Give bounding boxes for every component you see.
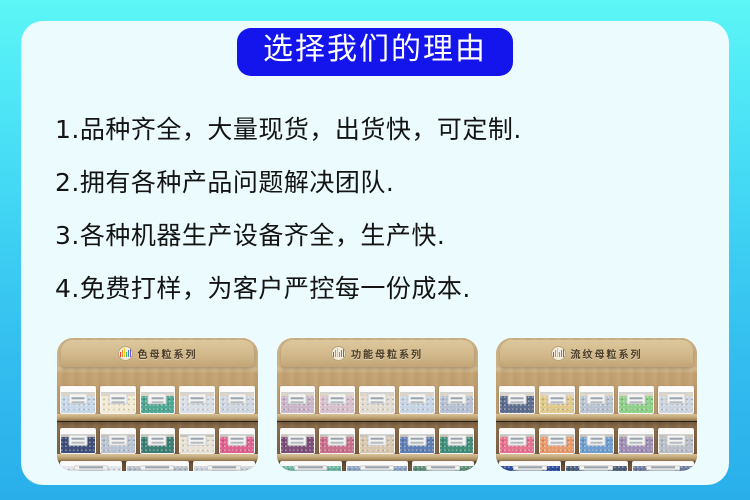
- product-label: [360, 465, 394, 470]
- pellet-tub: [359, 386, 395, 414]
- list-item: 2.拥有各种产品问题解决团队.: [55, 156, 695, 209]
- pellet-tub: [60, 386, 96, 414]
- shelf-board: [277, 454, 478, 461]
- product-label: [547, 393, 566, 404]
- product-label: [108, 435, 127, 446]
- product-label: [68, 435, 87, 446]
- product-label: [426, 465, 460, 470]
- product-label: [288, 435, 307, 446]
- pellet-tub-row: [280, 428, 475, 454]
- pellet-tub-row: [280, 386, 475, 414]
- product-label: [507, 435, 526, 446]
- pellet-tub: [126, 461, 188, 471]
- pellet-tub: [658, 428, 694, 454]
- pellet-tub: [219, 428, 255, 454]
- list-item: 3.各种机器生产设备齐全，生产快.: [55, 209, 695, 262]
- product-label: [627, 435, 646, 446]
- series-label: 色母粒系列: [138, 346, 198, 361]
- pellet-tub: [60, 428, 96, 454]
- pellet-tub: [618, 386, 654, 414]
- pellet-tub: [140, 386, 176, 414]
- pellet-tub: [539, 428, 575, 454]
- pellet-tub: [219, 386, 255, 414]
- pellet-tub: [499, 461, 561, 471]
- product-label: [148, 435, 167, 446]
- product-label: [407, 435, 426, 446]
- product-label: [667, 393, 686, 404]
- pellet-tub: [439, 428, 475, 454]
- product-label: [207, 465, 241, 470]
- product-label: [587, 393, 606, 404]
- pellet-tub: [565, 461, 627, 471]
- pellet-tub: [499, 386, 535, 414]
- pellet-tub: [399, 386, 435, 414]
- product-label: [74, 465, 108, 470]
- product-label: [368, 393, 387, 404]
- product-label: [627, 393, 646, 404]
- pellet-tub: [359, 428, 395, 454]
- pellet-tub: [439, 386, 475, 414]
- pellet-tub: [579, 428, 615, 454]
- series-header: 色母粒系列: [61, 340, 254, 367]
- pellet-tub: [280, 428, 316, 454]
- pellet-tub: [346, 461, 408, 471]
- pellet-tub: [539, 386, 575, 414]
- pellet-tub: [280, 461, 342, 471]
- pellet-tub: [399, 428, 435, 454]
- product-card[interactable]: 功能母粒系列: [277, 338, 478, 471]
- product-label: [646, 465, 680, 470]
- rainbow-stripes-logo-icon: [551, 346, 566, 361]
- product-label: [368, 435, 387, 446]
- shelf-board: [496, 414, 697, 421]
- pellet-tub-row: [499, 428, 694, 454]
- product-label: [507, 393, 526, 404]
- product-card[interactable]: 色母粒系列: [57, 338, 258, 471]
- rainbow-stripes-logo-icon: [331, 346, 346, 361]
- product-label: [547, 435, 566, 446]
- pellet-tub: [499, 428, 535, 454]
- series-header: 流纹母粒系列: [500, 340, 693, 367]
- pellet-tub: [193, 461, 255, 471]
- product-label: [513, 465, 547, 470]
- page-title-wrapper: 选择我们的理由: [0, 28, 750, 76]
- series-label: 流纹母粒系列: [571, 346, 643, 361]
- pellet-tub-row: [60, 428, 255, 454]
- pellet-tub: [618, 428, 654, 454]
- product-label: [587, 435, 606, 446]
- product-label: [108, 393, 127, 404]
- product-label: [447, 393, 466, 404]
- pellet-tub-row: [60, 386, 255, 414]
- series-header: 功能母粒系列: [281, 340, 474, 367]
- product-label: [328, 435, 347, 446]
- pellet-tub: [140, 428, 176, 454]
- pellet-tub: [179, 428, 215, 454]
- pellet-tub: [658, 386, 694, 414]
- pellet-tub-row: [499, 386, 694, 414]
- product-card[interactable]: 流纹母粒系列: [496, 338, 697, 471]
- pellet-tub: [579, 386, 615, 414]
- list-item: 1.品种齐全，大量现货，出货快，可定制.: [55, 103, 695, 156]
- shelf-board: [277, 414, 478, 421]
- advantages-list: 1.品种齐全，大量现货，出货快，可定制. 2.拥有各种产品问题解决团队. 3.各…: [55, 103, 695, 315]
- pellet-tub: [412, 461, 474, 471]
- series-label: 功能母粒系列: [351, 346, 423, 361]
- page-title: 选择我们的理由: [237, 28, 513, 76]
- product-label: [148, 393, 167, 404]
- product-label: [228, 393, 247, 404]
- product-label: [407, 393, 426, 404]
- rainbow-stripes-logo-icon: [118, 346, 133, 361]
- product-label: [188, 393, 207, 404]
- product-label: [68, 393, 87, 404]
- pellet-tub: [100, 428, 136, 454]
- product-label: [288, 393, 307, 404]
- list-item: 4.免费打样，为客户严控每一份成本.: [55, 262, 695, 315]
- shelf-board: [57, 414, 258, 421]
- product-label: [580, 465, 614, 470]
- pellet-tub: [100, 386, 136, 414]
- pellet-tub-row: [280, 461, 475, 471]
- pellet-tub: [179, 386, 215, 414]
- product-label: [228, 435, 247, 446]
- product-label: [667, 435, 686, 446]
- shelf-board: [57, 454, 258, 461]
- pellet-tub: [632, 461, 694, 471]
- product-label: [328, 393, 347, 404]
- pellet-tub: [319, 428, 355, 454]
- pellet-tub-row: [60, 461, 255, 471]
- pellet-tub: [319, 386, 355, 414]
- product-label: [447, 435, 466, 446]
- product-label: [294, 465, 328, 470]
- product-label: [141, 465, 175, 470]
- pellet-tub-row: [499, 461, 694, 471]
- pellet-tub: [60, 461, 122, 471]
- product-label: [188, 435, 207, 446]
- shelf-board: [496, 454, 697, 461]
- pellet-tub: [280, 386, 316, 414]
- product-photo-gallery: 色母粒系列 功能母粒系列 流纹母粒系列: [57, 338, 697, 471]
